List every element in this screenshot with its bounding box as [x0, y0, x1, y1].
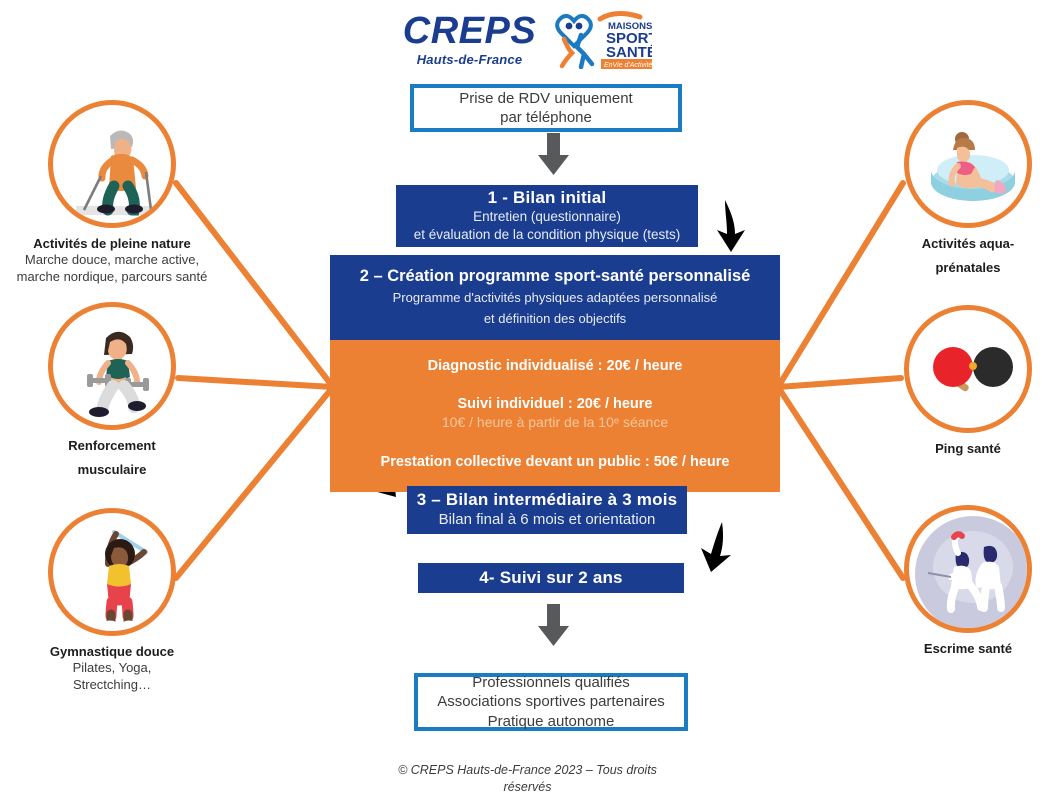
- ground-shape: [76, 206, 160, 215]
- intake-box: Prise de RDV uniquement par téléphone: [410, 84, 682, 132]
- mss-dot-left-icon: [566, 23, 573, 30]
- creps-region-label: Hauts-de-France: [417, 53, 523, 66]
- gym-shoe-left-icon: [103, 621, 117, 628]
- activity-sub2: marche nordique, parcours santé: [12, 269, 212, 286]
- activity-circle: [904, 305, 1032, 433]
- maisons-sport-sante-logo: MAISONS SPORT SANTÉ EnVie d'Activité: [554, 9, 652, 69]
- activity-node-escrime: Escrime santé: [868, 505, 1055, 657]
- activity-circle: [904, 505, 1032, 633]
- strength-shoe-front-icon: [89, 407, 109, 417]
- mss-arc-icon: [600, 13, 640, 19]
- paddle-black-icon: [973, 347, 1013, 387]
- step1-sub2: et évaluation de la condition physique (…: [414, 226, 680, 244]
- step2-pricing: Diagnostic individualisé : 20€ / heure S…: [330, 340, 780, 492]
- arrow-intake-to-step1: [538, 133, 569, 175]
- fencer-b-leg-left-icon: [984, 586, 986, 608]
- nordic-walker-shoe-front-icon: [125, 205, 143, 214]
- intake-line2: par téléphone: [500, 108, 592, 128]
- step4-box: 4- Suivi sur 2 ans: [418, 563, 684, 593]
- activity-circle: [48, 302, 176, 430]
- fencer-b-mask-icon: [984, 546, 998, 563]
- step2-sub2: et définition des objectifs: [484, 310, 626, 328]
- mss-line3: SANTÉ: [606, 44, 652, 61]
- activity-circle: [48, 100, 176, 228]
- step1-title: 1 - Bilan initial: [488, 188, 607, 208]
- mss-heart-icon: [557, 16, 591, 46]
- activity-node-pleine-nature: Activités de pleine nature Marche douce,…: [12, 100, 212, 286]
- copyright-footer: © CREPS Hauts-de-France 2023 – Tous droi…: [0, 762, 1055, 796]
- pingpong-ball-icon: [969, 362, 977, 370]
- activity-sub1: Pilates, Yoga,: [12, 660, 212, 677]
- intake-line1: Prise de RDV uniquement: [459, 89, 632, 109]
- activity-sub1: Marche douce, marche active,: [12, 252, 212, 269]
- mss-dot-right-icon: [576, 23, 583, 30]
- outcome-box: Professionnels qualifiés Associations sp…: [414, 673, 688, 731]
- gym-top-icon: [107, 564, 131, 587]
- nordic-walker-shoe-back-icon: [97, 205, 115, 214]
- activity-node-gymnastique: Gymnastique douce Pilates, Yoga, Strectc…: [12, 508, 212, 694]
- copyright-line1: © CREPS Hauts-de-France 2023 – Tous droi…: [0, 762, 1055, 779]
- activity-label: Activités aqua-: [868, 236, 1055, 252]
- fencer-a-glove-icon: [954, 534, 962, 537]
- copyright-line2: réservés: [0, 779, 1055, 796]
- step4-title: 4- Suivi sur 2 ans: [479, 568, 622, 588]
- step2-title: 2 – Création programme sport-santé perso…: [360, 267, 751, 286]
- mss-tagline: EnVie d'Activité: [604, 62, 652, 69]
- activity-label: Gymnastique douce: [12, 644, 212, 660]
- price-suivi-individuel: Suivi individuel : 20€ / heure: [458, 396, 653, 412]
- arrow-curve-1: [717, 200, 745, 252]
- outcome-line1: Professionnels qualifiés: [472, 673, 630, 693]
- activity-label: Ping santé: [868, 441, 1055, 457]
- step3-box: 3 – Bilan intermédiaire à 3 mois Bilan f…: [407, 486, 687, 534]
- activity-label-2: musculaire: [12, 462, 212, 478]
- mss-figure-icon: [577, 35, 592, 67]
- strength-leg-front-icon: [102, 386, 113, 410]
- activity-node-ping-sante: Ping santé: [868, 305, 1055, 457]
- step2-header: 2 – Création programme sport-santé perso…: [330, 255, 780, 340]
- activity-label: Escrime santé: [868, 641, 1055, 657]
- step1-sub1: Entretien (questionnaire): [473, 208, 621, 226]
- activity-circle: [904, 100, 1032, 228]
- creps-wordmark: CREPS: [403, 12, 536, 50]
- price-suivi-note: 10€ / heure à partir de la 10ᵉ séance: [442, 414, 668, 430]
- step3-sub1: Bilan final à 6 mois et orientation: [439, 510, 656, 530]
- gym-shoe-right-icon: [122, 621, 136, 628]
- logo-header: CREPS Hauts-de-France MAISONS SPORT SANT…: [0, 4, 1055, 74]
- outcome-line2: Associations sportives partenaires: [437, 692, 665, 712]
- arrow-step4-to-outcome: [538, 604, 569, 646]
- fencer-b-leg-right-icon: [998, 586, 1001, 608]
- strength-shoe-back-icon: [128, 401, 146, 411]
- price-diagnostic: Diagnostic individualisé : 20€ / heure: [428, 358, 683, 374]
- nordic-pole-back-icon: [84, 176, 101, 210]
- price-prestation-collective: Prestation collective devant un public :…: [381, 454, 730, 470]
- nordic-pole-front-icon: [146, 172, 151, 210]
- activity-sub2: Strectching…: [12, 677, 212, 694]
- step3-title: 3 – Bilan intermédiaire à 3 mois: [417, 490, 678, 510]
- step2-box: 2 – Création programme sport-santé perso…: [330, 255, 780, 492]
- arrow-curve-3: [701, 522, 731, 572]
- step2-sub1: Programme d'activités physiques adaptées…: [393, 289, 718, 307]
- activity-label: Activités de pleine nature: [12, 236, 212, 252]
- activity-node-renforcement: Renforcement musculaire: [12, 302, 212, 479]
- outcome-line3: Pratique autonome: [488, 712, 615, 732]
- activity-label-2: prénatales: [868, 260, 1055, 276]
- activity-label: Renforcement: [12, 438, 212, 454]
- creps-logo: CREPS Hauts-de-France: [403, 12, 536, 66]
- activity-node-aqua-prenatales: Activités aqua- prénatales: [868, 100, 1055, 277]
- step1-box: 1 - Bilan initial Entretien (questionnai…: [396, 185, 698, 247]
- paddle-red-icon: [933, 347, 973, 392]
- infographic-canvas: CREPS Hauts-de-France MAISONS SPORT SANT…: [0, 0, 1055, 800]
- activity-circle: [48, 508, 176, 636]
